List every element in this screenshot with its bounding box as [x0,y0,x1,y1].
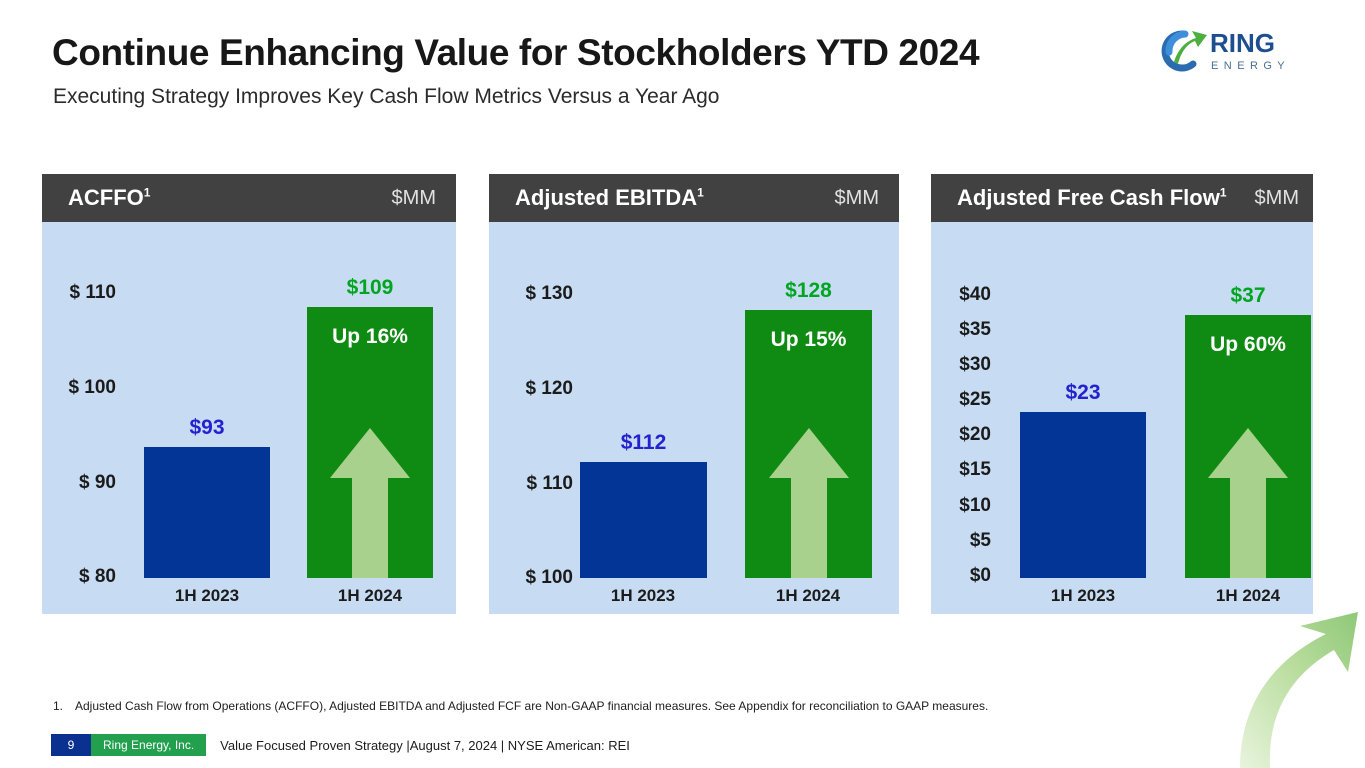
page-number-badge: 9 [51,734,91,756]
up-arrow-icon [1206,426,1290,578]
panel-unit: $MM [835,187,879,210]
bar-value-label: $128 [785,279,832,303]
bar-delta-label: Up 16% [332,325,408,349]
bars-group: $93 1H 2023 $109 Up 16% 1H 2024 [42,222,456,614]
footer-tagline: Value Focused Proven Strategy |August 7,… [206,734,630,756]
bar-category-label: 1H 2024 [338,586,402,606]
bar-1h-2023: $23 [1020,412,1146,578]
bar-rect [144,447,270,578]
bar-1h-2024: $128 Up 15% [745,310,872,578]
company-badge: Ring Energy, Inc. [91,734,206,756]
panel-unit: $MM [1255,187,1299,210]
bar-category-label: 1H 2023 [611,586,675,606]
footnote: 1.Adjusted Cash Flow from Operations (AC… [53,699,988,713]
bar-rect [1020,412,1146,578]
panel-title-text: Adjusted EBITDA [515,185,697,210]
page-title: Continue Enhancing Value for Stockholder… [52,32,979,74]
panel-title-text: ACFFO [68,185,144,210]
bar-delta-label: Up 15% [771,328,847,352]
bar-value-label: $109 [347,276,394,300]
panel-title-text: Adjusted Free Cash Flow [957,185,1220,210]
panel-title-superscript: 1 [697,186,704,200]
metric-panel-adjusted-free-cash-flow: Adjusted Free Cash Flow1 $MM $40 $35 $30… [931,174,1313,614]
decorative-up-right-arrow-icon [1230,608,1365,768]
panel-unit: $MM [392,187,436,210]
panel-header: Adjusted EBITDA1 $MM [489,174,899,222]
up-arrow-icon [328,426,412,578]
metric-panel-acffo: ACFFO1 $MM $ 110 $ 100 $ 90 $ 80 $93 1H … [42,174,456,614]
footnote-text: Adjusted Cash Flow from Operations (ACFF… [75,699,988,713]
up-arrow-icon [767,426,851,578]
footnote-number: 1. [53,699,75,713]
logo-submark: E N E R G Y [1211,60,1286,72]
bar-1h-2023: $112 [580,462,707,578]
bar-category-label: 1H 2023 [175,586,239,606]
chart-area-acffo: $ 110 $ 100 $ 90 $ 80 $93 1H 2023 $109 U… [42,222,456,614]
panel-title: ACFFO1 [68,185,150,211]
panel-title: Adjusted Free Cash Flow1 [957,185,1227,211]
bar-1h-2024: $37 Up 60% [1185,315,1311,578]
bar-1h-2024: $109 Up 16% [307,307,433,578]
bar-1h-2023: $93 [144,447,270,578]
bar-value-label: $112 [621,431,667,455]
bar-value-label: $23 [1065,381,1100,405]
footer: 9 Ring Energy, Inc. Value Focused Proven… [51,734,630,756]
panel-header: Adjusted Free Cash Flow1 $MM [931,174,1313,222]
bar-delta-label: Up 60% [1210,333,1286,357]
panel-title-superscript: 1 [1220,186,1227,200]
bars-group: $112 1H 2023 $128 Up 15% 1H 2024 [489,222,899,614]
bar-category-label: 1H 2024 [1216,586,1280,606]
chart-area-adjusted-ebitda: $ 130 $ 120 $ 110 $ 100 $112 1H 2023 $12… [489,222,899,614]
panel-title-superscript: 1 [144,186,151,200]
ring-energy-logo: RING E N E R G Y [1147,22,1307,78]
bar-value-label: $93 [189,416,224,440]
chart-area-adjusted-free-cash-flow: $40 $35 $30 $25 $20 $15 $10 $5 $0 $23 1H… [931,222,1313,614]
bar-value-label: $37 [1230,284,1265,308]
bars-group: $23 1H 2023 $37 Up 60% 1H 2024 [931,222,1313,614]
bar-category-label: 1H 2023 [1051,586,1115,606]
panel-title: Adjusted EBITDA1 [515,185,704,211]
metric-panel-adjusted-ebitda: Adjusted EBITDA1 $MM $ 130 $ 120 $ 110 $… [489,174,899,614]
bar-category-label: 1H 2024 [776,586,840,606]
panel-header: ACFFO1 $MM [42,174,456,222]
bar-rect [580,462,707,578]
page-subtitle: Executing Strategy Improves Key Cash Flo… [53,85,719,109]
logo-wordmark: RING [1210,28,1275,58]
